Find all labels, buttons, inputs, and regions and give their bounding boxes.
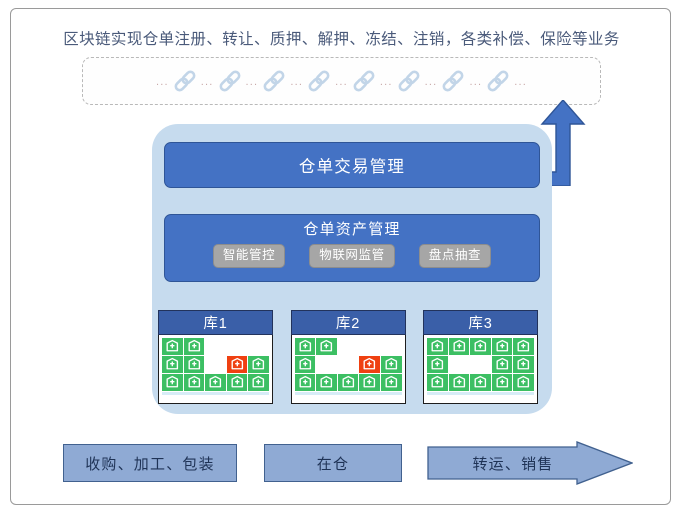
crate-icon: [513, 356, 534, 373]
crate-icon: [295, 374, 316, 391]
crate-icon: [381, 356, 402, 373]
warehouse-floor: [162, 392, 269, 395]
warehouse-cell: [470, 356, 491, 373]
warehouse-cell: [492, 356, 513, 373]
warehouse-cell: [359, 356, 380, 373]
asset-chip-1[interactable]: 智能管控: [213, 244, 285, 268]
warehouse-cell: [248, 356, 269, 373]
crate-icon: [295, 338, 316, 355]
chain-separator-dots: ...: [153, 77, 172, 88]
crate-icon: [316, 338, 337, 355]
transaction-management-box[interactable]: 仓单交易管理: [164, 142, 540, 188]
warehouse-cell: [513, 338, 534, 355]
asset-management-box[interactable]: 仓单资产管理 智能管控物联网监管盘点抽查: [164, 214, 540, 282]
warehouse-cell: [295, 374, 316, 391]
warehouse-3[interactable]: 库3: [423, 310, 538, 404]
chain-separator-dots: ...: [198, 77, 217, 88]
crate-icon: [162, 374, 183, 391]
warehouse-cell: [427, 338, 448, 355]
chain-separator-dots: ...: [243, 77, 262, 88]
warehouse-cell: [338, 356, 359, 373]
crate-icon: [162, 356, 183, 373]
warehouse-cell: [162, 338, 183, 355]
warehouse-cell: [449, 338, 470, 355]
crate-icon: [184, 338, 205, 355]
warehouse-cell: [227, 338, 248, 355]
warehouse-cell: [248, 374, 269, 391]
crate-icon: [184, 356, 205, 373]
crate-icon: [449, 374, 470, 391]
warehouse-cell: [248, 338, 269, 355]
process-step-2[interactable]: 在仓: [264, 444, 402, 482]
crate-icon: [492, 338, 513, 355]
chain-link-icon: [172, 68, 198, 94]
asset-chip-2[interactable]: 物联网监管: [309, 244, 395, 268]
warehouse-cell: [449, 374, 470, 391]
chain-separator-dots: ...: [377, 77, 396, 88]
warehouse-cell: [316, 374, 337, 391]
warehouse-cell: [449, 356, 470, 373]
warehouse-cell: [513, 356, 534, 373]
chain-link-icon: [485, 68, 511, 94]
warehouse-1-grid: [158, 335, 273, 404]
warehouse-cell: [162, 356, 183, 373]
warehouse-cell: [513, 374, 534, 391]
warehouse-floor: [427, 392, 534, 395]
crate-icon: [227, 356, 248, 373]
crate-icon: [381, 374, 402, 391]
warehouse-cell: [492, 338, 513, 355]
warehouse-cell: [492, 374, 513, 391]
crate-icon: [359, 374, 380, 391]
transaction-management-label: 仓单交易管理: [299, 153, 405, 177]
crate-icon: [338, 374, 359, 391]
crate-icon: [248, 374, 269, 391]
warehouse-cell: [316, 338, 337, 355]
chain-link-icon: [217, 68, 243, 94]
warehouse-row: 库1库2库3: [158, 310, 538, 404]
crate-icon: [427, 356, 448, 373]
crate-icon: [295, 356, 316, 373]
warehouse-cell: [316, 356, 337, 373]
process-step-3[interactable]: 转运、销售: [427, 441, 633, 485]
chain-link-icon: [261, 68, 287, 94]
process-step-2-label: 在仓: [317, 453, 349, 474]
warehouse-cell: [295, 338, 316, 355]
warehouse-1-label: 库1: [158, 310, 273, 335]
page-title: 区块链实现仓单注册、转让、质押、解押、冻结、注销，各类补偿、保险等业务: [0, 27, 683, 49]
warehouse-cell: [338, 374, 359, 391]
warehouse-cell: [427, 374, 448, 391]
warehouse-cell: [359, 374, 380, 391]
chain-link-icon: [440, 68, 466, 94]
asset-management-title: 仓单资产管理: [303, 220, 400, 240]
chain-separator-dots: ...: [466, 77, 485, 88]
warehouse-cell: [381, 356, 402, 373]
crate-icon: [184, 374, 205, 391]
crate-icon: [470, 338, 491, 355]
warehouse-cell: [205, 374, 226, 391]
warehouse-cell: [295, 356, 316, 373]
diagram-canvas: 区块链实现仓单注册、转让、质押、解押、冻结、注销，各类补偿、保险等业务 ....…: [0, 0, 683, 521]
warehouse-cell: [184, 356, 205, 373]
warehouse-2-grid: [291, 335, 406, 404]
blockchain-strip: ...........................: [82, 57, 601, 105]
warehouse-3-grid: [423, 335, 538, 404]
crate-icon: [162, 338, 183, 355]
crate-icon: [513, 338, 534, 355]
process-step-1[interactable]: 收购、加工、包装: [63, 444, 237, 482]
warehouse-cell: [338, 338, 359, 355]
crate-icon: [470, 374, 491, 391]
chain-separator-dots: ...: [287, 77, 306, 88]
crate-icon: [205, 374, 226, 391]
process-step-1-label: 收购、加工、包装: [85, 453, 215, 474]
chain-link-icon: [351, 68, 377, 94]
crate-icon: [427, 374, 448, 391]
crate-icon: [513, 374, 534, 391]
warehouse-cell: [162, 374, 183, 391]
warehouse-2[interactable]: 库2: [291, 310, 406, 404]
warehouse-cell: [184, 374, 205, 391]
chain-separator-dots: ...: [422, 77, 441, 88]
crate-icon: [449, 338, 470, 355]
crate-icon: [359, 356, 380, 373]
warehouse-cell: [359, 338, 380, 355]
warehouse-cell: [381, 374, 402, 391]
asset-chip-3[interactable]: 盘点抽查: [419, 244, 491, 268]
chain-separator-dots: ...: [511, 77, 530, 88]
crate-icon: [316, 374, 337, 391]
crate-icon: [248, 356, 269, 373]
crate-icon: [492, 356, 513, 373]
warehouse-floor: [295, 392, 402, 395]
warehouse-cell: [205, 338, 226, 355]
warehouse-3-label: 库3: [423, 310, 538, 335]
crate-icon: [427, 338, 448, 355]
warehouse-cell: [470, 338, 491, 355]
warehouse-cell: [227, 374, 248, 391]
warehouse-2-label: 库2: [291, 310, 406, 335]
crate-icon: [492, 374, 513, 391]
process-row: 收购、加工、包装 在仓 转运、销售: [63, 441, 633, 485]
asset-management-chips: 智能管控物联网监管盘点抽查: [213, 244, 491, 268]
chain-link-icon: [306, 68, 332, 94]
warehouse-cell: [205, 356, 226, 373]
warehouse-cell: [381, 338, 402, 355]
chain-link-icon: [396, 68, 422, 94]
warehouse-cell: [184, 338, 205, 355]
warehouse-cell: [470, 374, 491, 391]
warehouse-cell: [427, 356, 448, 373]
crate-icon: [227, 374, 248, 391]
chain-separator-dots: ...: [332, 77, 351, 88]
warehouse-1[interactable]: 库1: [158, 310, 273, 404]
warehouse-cell: [227, 356, 248, 373]
